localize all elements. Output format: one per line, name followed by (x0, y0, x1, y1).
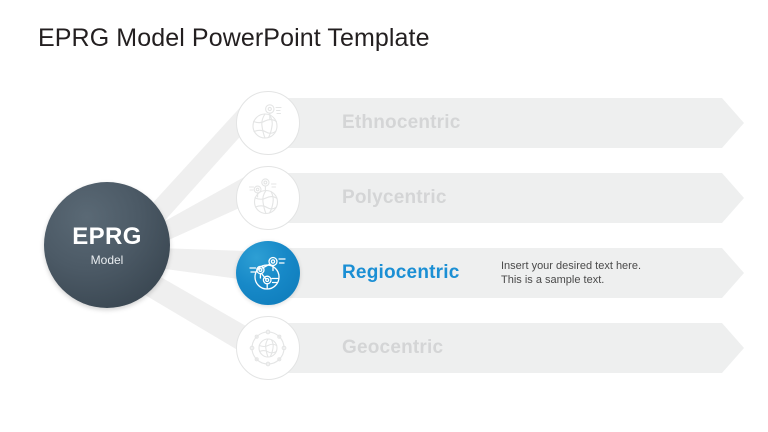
page-title: EPRG Model PowerPoint Template (38, 24, 430, 53)
row-description: Insert your desired text here. This is a… (501, 248, 641, 298)
row-description-line2: This is a sample text. (501, 273, 641, 287)
row-description-line1: Insert your desired text here. (501, 259, 641, 273)
hub-circle[interactable]: EPRG Model (44, 182, 170, 308)
ray-to-regiocentric (158, 248, 246, 280)
row-label: Polycentric (342, 173, 447, 223)
globe-network-pins-icon (236, 241, 300, 305)
banner-arrow[interactable] (260, 173, 744, 223)
banner-arrow[interactable] (260, 323, 744, 373)
banner-arrow[interactable] (260, 98, 744, 148)
ray-to-polycentric (156, 176, 246, 243)
slide-canvas: EPRG Model PowerPoint Template EPRG Mode… (0, 0, 768, 432)
row-label: Geocentric (342, 323, 443, 373)
globe-single-pin-icon (236, 91, 300, 155)
row-label: Ethnocentric (342, 98, 461, 148)
globe-two-pins-icon (236, 166, 300, 230)
hub-subtitle: Model (91, 254, 124, 266)
globe-orbit-icon (236, 316, 300, 380)
hub-title: EPRG (72, 225, 142, 249)
ray-to-ethnocentric (150, 101, 246, 226)
row-label: Regiocentric (342, 248, 460, 298)
